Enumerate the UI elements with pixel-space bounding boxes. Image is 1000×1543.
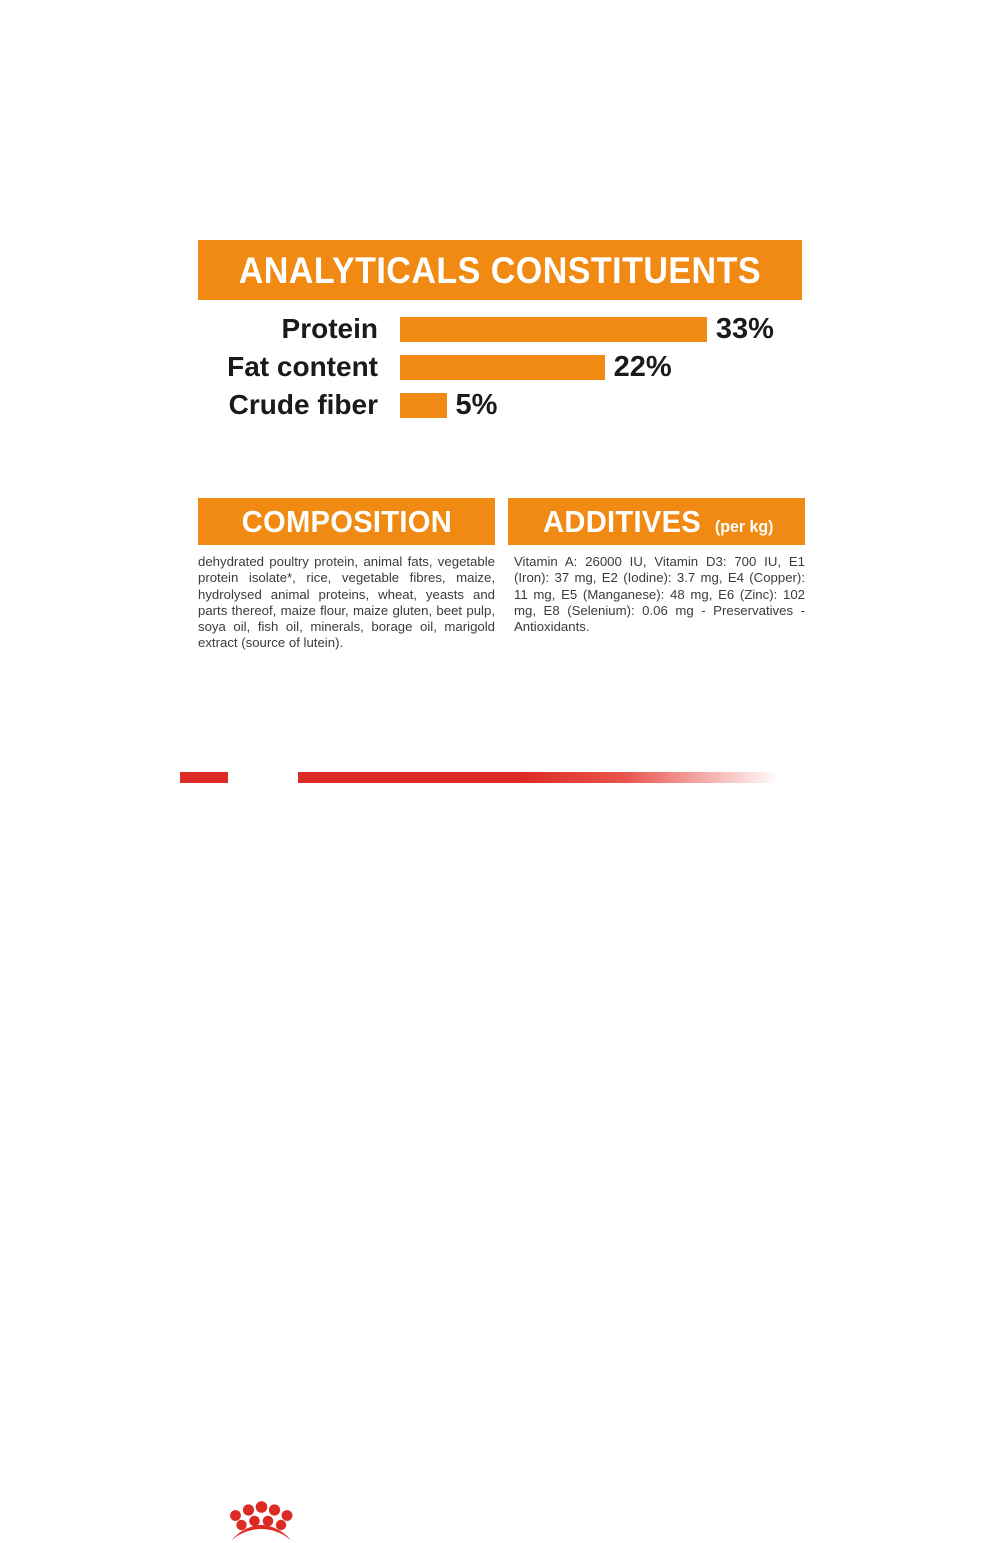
bar-row: Fat content 22% xyxy=(198,348,838,386)
additives-banner-inner: ADDITIVES (per kg) xyxy=(538,506,775,537)
footer-rule-left-segment xyxy=(180,772,228,783)
royal-canin-crown-icon xyxy=(226,1497,296,1543)
composition-banner-inner: COMPOSITION xyxy=(235,506,459,537)
analytics-bar-chart: Protein 33% Fat content 22% Crude fiber … xyxy=(198,310,838,424)
analytics-banner: ANALYTICALS CONSTITUENTS xyxy=(198,240,802,300)
bar-track-fat-content: 22% xyxy=(400,353,672,382)
bar-row: Protein 33% xyxy=(198,310,838,348)
composition-panel: COMPOSITION dehydrated poultry protein, … xyxy=(198,498,495,652)
composition-banner-title: COMPOSITION xyxy=(241,506,451,537)
additives-body-text: Vitamin A: 26000 IU, Vitamin D3: 700 IU,… xyxy=(514,554,805,635)
additives-banner: ADDITIVES (per kg) xyxy=(508,498,805,545)
composition-body-text: dehydrated poultry protein, animal fats,… xyxy=(198,554,495,652)
label-page: ANALYTICALS CONSTITUENTS Protein 33% Fat… xyxy=(0,0,1000,1000)
bar-row: Crude fiber 5% xyxy=(198,386,838,424)
additives-banner-title: ADDITIVES xyxy=(543,506,701,537)
bar-track-protein: 33% xyxy=(400,315,774,344)
bar-fill-fat-content xyxy=(400,355,605,380)
footer-rule xyxy=(0,745,1000,805)
additives-banner-subtitle: (per kg) xyxy=(715,518,774,535)
bar-fill-protein xyxy=(400,317,707,342)
bar-label-fat-content: Fat content xyxy=(198,353,400,381)
bar-value-crude-fiber: 5% xyxy=(456,391,498,420)
composition-banner: COMPOSITION xyxy=(198,498,495,545)
bar-fill-crude-fiber xyxy=(400,393,447,418)
analytics-banner-title: ANALYTICALS CONSTITUENTS xyxy=(239,252,761,289)
footer-rule-right-segment xyxy=(298,772,780,783)
additives-panel: ADDITIVES (per kg) Vitamin A: 26000 IU, … xyxy=(508,498,805,635)
bar-label-crude-fiber: Crude fiber xyxy=(198,391,400,419)
bar-value-fat-content: 22% xyxy=(614,353,672,382)
bar-track-crude-fiber: 5% xyxy=(400,391,497,420)
bar-value-protein: 33% xyxy=(716,315,774,344)
bar-label-protein: Protein xyxy=(198,315,400,343)
